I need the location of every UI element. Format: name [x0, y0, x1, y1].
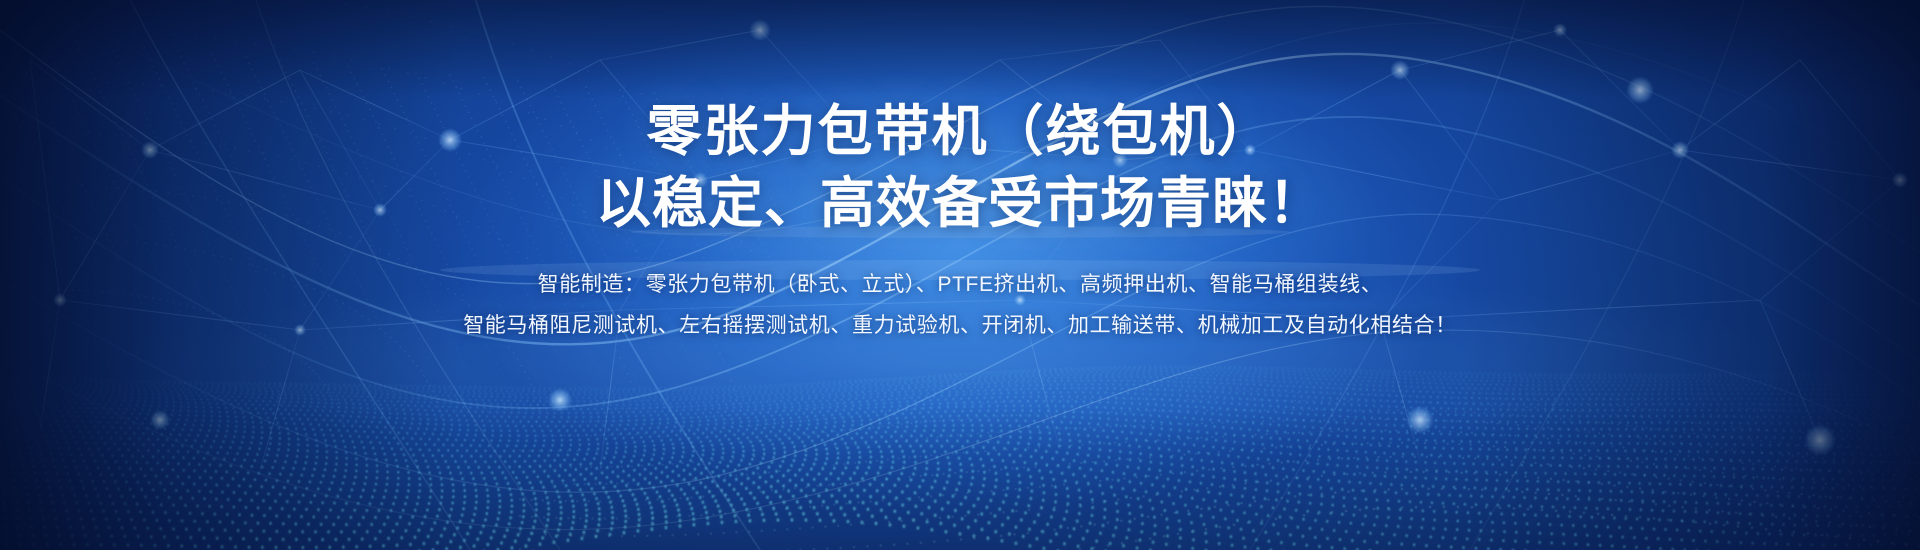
banner-headline: 零张力包带机（绕包机） 以稳定、高效备受市场青睐！: [596, 96, 1324, 239]
headline-line-2: 以稳定、高效备受市场青睐！: [596, 168, 1324, 240]
subtitle-line-2: 智能马桶阻尼测试机、左右摇摆测试机、重力试验机、开闭机、加工输送带、机械加工及自…: [463, 306, 1457, 347]
hero-banner: 零张力包带机（绕包机） 以稳定、高效备受市场青睐！ 智能制造：零张力包带机（卧式…: [0, 0, 1920, 550]
headline-line-1: 零张力包带机（绕包机）: [596, 96, 1324, 168]
banner-subtitle: 智能制造：零张力包带机（卧式、立式）、PTFE挤出机、高频押出机、智能马桶组装线…: [463, 265, 1457, 347]
banner-content: 零张力包带机（绕包机） 以稳定、高效备受市场青睐！ 智能制造：零张力包带机（卧式…: [0, 0, 1920, 550]
subtitle-line-1: 智能制造：零张力包带机（卧式、立式）、PTFE挤出机、高频押出机、智能马桶组装线…: [463, 265, 1457, 306]
